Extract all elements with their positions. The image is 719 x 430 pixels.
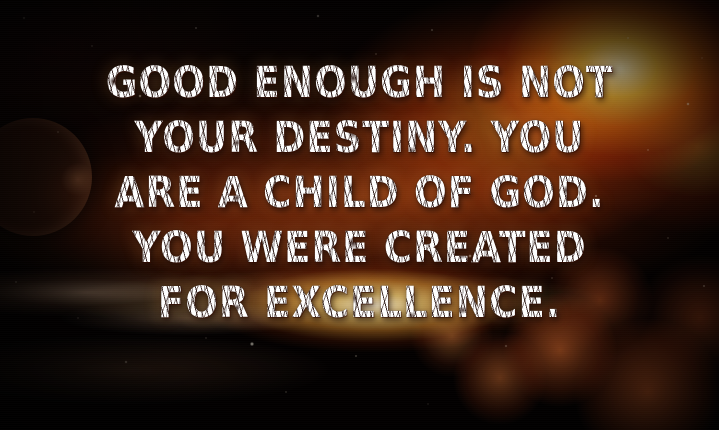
quote-line-4: YOU WERE CREATED bbox=[36, 221, 683, 276]
quote-line-3: ARE A CHILD OF GOD. bbox=[36, 166, 683, 221]
quote-text-block: GOOD ENOUGH IS NOT YOUR DESTINY. YOU ARE… bbox=[0, 56, 719, 331]
quote-line-2: YOUR DESTINY. YOU bbox=[36, 111, 683, 166]
quote-line-1: GOOD ENOUGH IS NOT bbox=[36, 56, 683, 111]
quote-line-5: FOR EXCELLENCE. bbox=[36, 276, 683, 331]
quote-poster: GOOD ENOUGH IS NOT YOUR DESTINY. YOU ARE… bbox=[0, 0, 719, 430]
